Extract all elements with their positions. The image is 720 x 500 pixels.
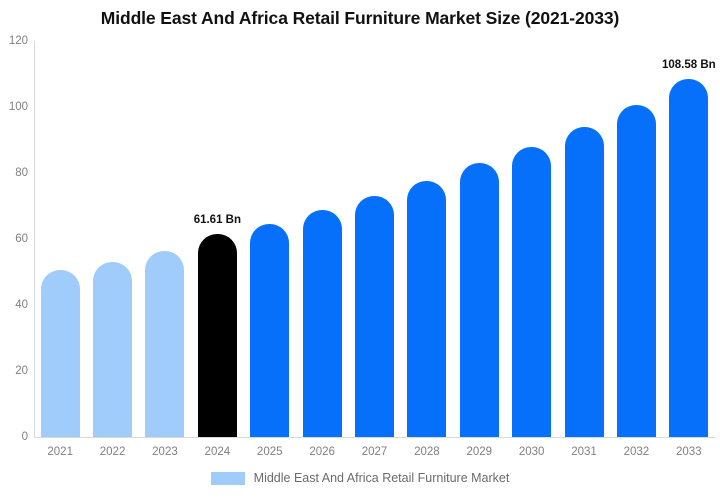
bar-2024[interactable]	[198, 234, 237, 437]
y-tick-label: 40	[0, 299, 28, 311]
bar-2028[interactable]	[407, 181, 446, 437]
bar-slot	[41, 41, 80, 437]
x-tick-label: 2025	[257, 446, 283, 458]
legend-swatch-icon	[211, 472, 245, 485]
x-tick-label: 2027	[362, 446, 388, 458]
y-tick-label: 80	[0, 167, 28, 179]
y-tick-label: 20	[0, 365, 28, 377]
x-tick-label: 2030	[519, 446, 545, 458]
bar-value-label: 108.58 Bn	[662, 59, 716, 71]
bar-value-label: 61.61 Bn	[194, 214, 241, 226]
x-tick-label: 2029	[466, 446, 492, 458]
y-axis-labels: 020406080100120	[0, 0, 30, 500]
bar-slot: 61.61 Bn	[198, 41, 237, 437]
bar-slot	[512, 41, 551, 437]
bars-group: 61.61 Bn108.58 Bn	[34, 41, 715, 437]
bar-2033[interactable]	[669, 79, 708, 437]
bar-2031[interactable]	[565, 127, 604, 437]
x-tick-label: 2024	[205, 446, 231, 458]
bar-2021[interactable]	[41, 270, 80, 437]
chart-container: Middle East And Africa Retail Furniture …	[0, 0, 720, 500]
chart-title: Middle East And Africa Retail Furniture …	[0, 8, 720, 29]
chart-legend: Middle East And Africa Retail Furniture …	[0, 471, 720, 485]
bar-2030[interactable]	[512, 147, 551, 437]
bar-slot	[250, 41, 289, 437]
bar-slot	[565, 41, 604, 437]
bar-2026[interactable]	[303, 210, 342, 437]
y-tick-label: 0	[0, 431, 28, 443]
x-tick-label: 2031	[571, 446, 597, 458]
y-tick-label: 60	[0, 233, 28, 245]
x-tick-label: 2021	[47, 446, 73, 458]
bar-slot	[355, 41, 394, 437]
x-tick-label: 2023	[152, 446, 178, 458]
bar-slot	[303, 41, 342, 437]
x-tick-label: 2033	[676, 446, 702, 458]
x-tick-label: 2028	[414, 446, 440, 458]
bar-slot	[460, 41, 499, 437]
legend-label: Middle East And Africa Retail Furniture …	[254, 471, 510, 485]
bar-slot	[145, 41, 184, 437]
x-tick-label: 2032	[624, 446, 650, 458]
y-tick-label: 100	[0, 101, 28, 113]
bar-slot	[407, 41, 446, 437]
bar-slot	[93, 41, 132, 437]
x-tick-label: 2026	[309, 446, 335, 458]
bar-2027[interactable]	[355, 196, 394, 437]
legend-item[interactable]: Middle East And Africa Retail Furniture …	[211, 471, 510, 485]
bar-2029[interactable]	[460, 163, 499, 437]
bar-2032[interactable]	[617, 105, 656, 437]
bar-2025[interactable]	[250, 224, 289, 437]
x-axis-line	[34, 437, 715, 438]
bar-slot	[617, 41, 656, 437]
x-tick-label: 2022	[100, 446, 126, 458]
bar-slot: 108.58 Bn	[669, 41, 708, 437]
y-tick-label: 120	[0, 35, 28, 47]
bar-2022[interactable]	[93, 262, 132, 437]
bar-2023[interactable]	[145, 251, 184, 437]
